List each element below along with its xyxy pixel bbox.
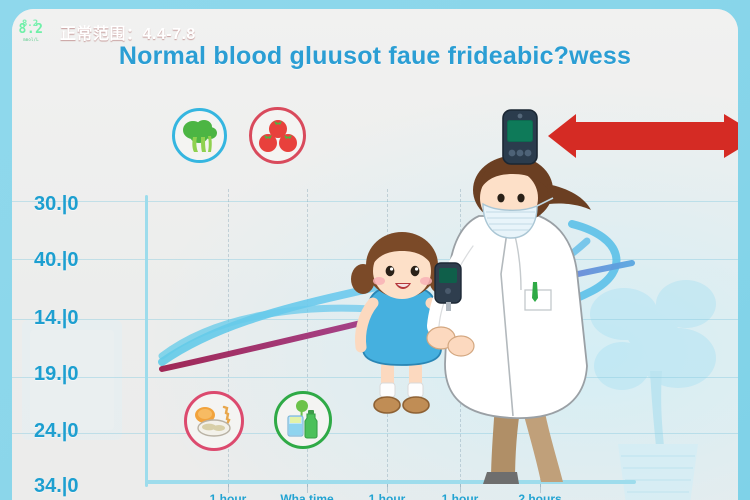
doctor-figure: [417, 154, 617, 484]
drinks-icon[interactable]: [274, 391, 332, 449]
poster-root: 30.|0 40.|0 14.|0 19.|0 24.|0 34.|0 1 ho…: [0, 0, 750, 500]
normal-range-label: 正常范围：4.4-7.8: [60, 20, 196, 44]
glucometer-in-hand-icon: [432, 261, 468, 311]
page-title: Normal blood gluusot faue frideabic?wess: [12, 42, 738, 71]
poster-panel: 30.|0 40.|0 14.|0 19.|0 24.|0 34.|0 1 ho…: [12, 9, 738, 500]
normal-range-arrow-banner: [546, 113, 738, 159]
bread-meal-icon[interactable]: [184, 391, 244, 451]
glucometer-device-icon: [501, 108, 539, 166]
glucometer-reading-value: 8.2: [12, 22, 50, 37]
broccoli-greens-icon[interactable]: [172, 108, 227, 163]
tomatoes-icon[interactable]: [249, 107, 306, 164]
